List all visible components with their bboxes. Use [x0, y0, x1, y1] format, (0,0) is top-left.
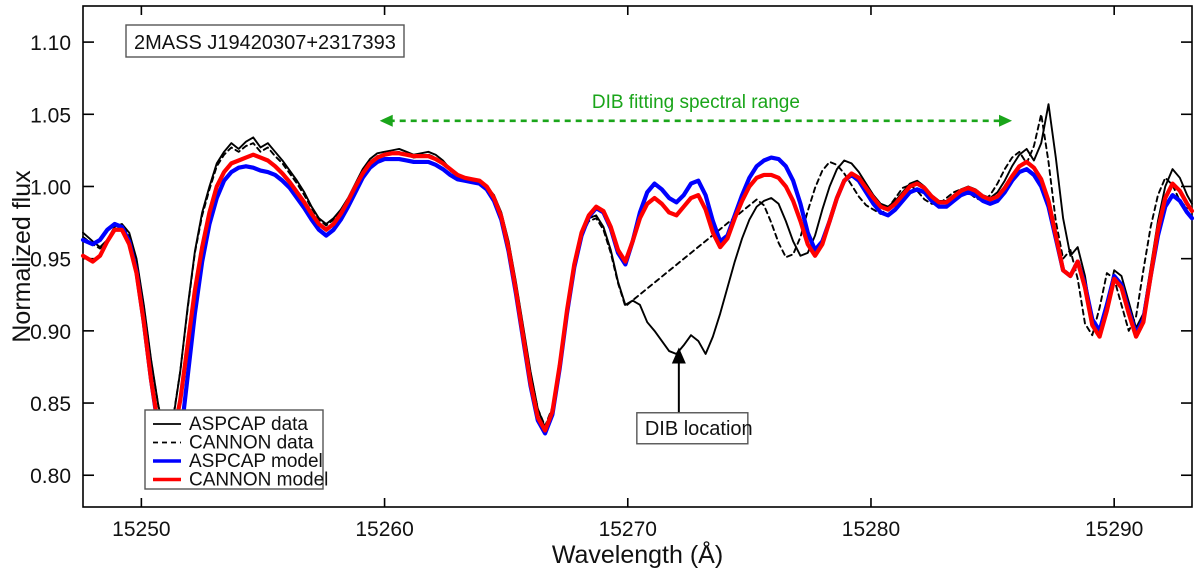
object-label: 2MASS J19420307+2317393	[134, 32, 396, 54]
x-tick-label: 15260	[355, 518, 413, 541]
y-tick-label: 1.10	[30, 32, 71, 55]
dib-location-arrow-icon	[672, 347, 686, 363]
spectrum-figure: 15250152601527015280152900.800.850.900.9…	[0, 0, 1200, 573]
y-tick-label: 0.90	[30, 321, 71, 344]
series-cannon-model	[83, 153, 1192, 449]
y-axis-title: Normalized flux	[8, 170, 36, 343]
spectrum-plot-svg: 15250152601527015280152900.800.850.900.9…	[0, 0, 1200, 573]
y-tick-label: 1.05	[30, 104, 71, 127]
series-aspcap-data	[83, 104, 1192, 435]
x-tick-label: 15270	[599, 518, 657, 541]
y-tick-label: 1.00	[30, 176, 71, 199]
x-tick-label: 15280	[842, 518, 900, 541]
legend-label-3: CANNON model	[189, 470, 328, 491]
series-cannon-data	[83, 114, 1187, 433]
x-tick-label: 15290	[1085, 518, 1143, 541]
dib-location-label: DIB location	[645, 418, 753, 440]
y-tick-label: 0.95	[30, 249, 71, 272]
x-axis-title: Wavelength (Å)	[552, 539, 723, 569]
y-tick-label: 0.80	[30, 465, 71, 488]
dib-range-label: DIB fitting spectral range	[592, 92, 800, 113]
dib-range-arrow-right-icon	[999, 115, 1012, 127]
y-tick-label: 0.85	[30, 393, 71, 416]
x-tick-label: 15250	[112, 518, 170, 541]
dib-range-arrow-left-icon	[380, 115, 393, 127]
